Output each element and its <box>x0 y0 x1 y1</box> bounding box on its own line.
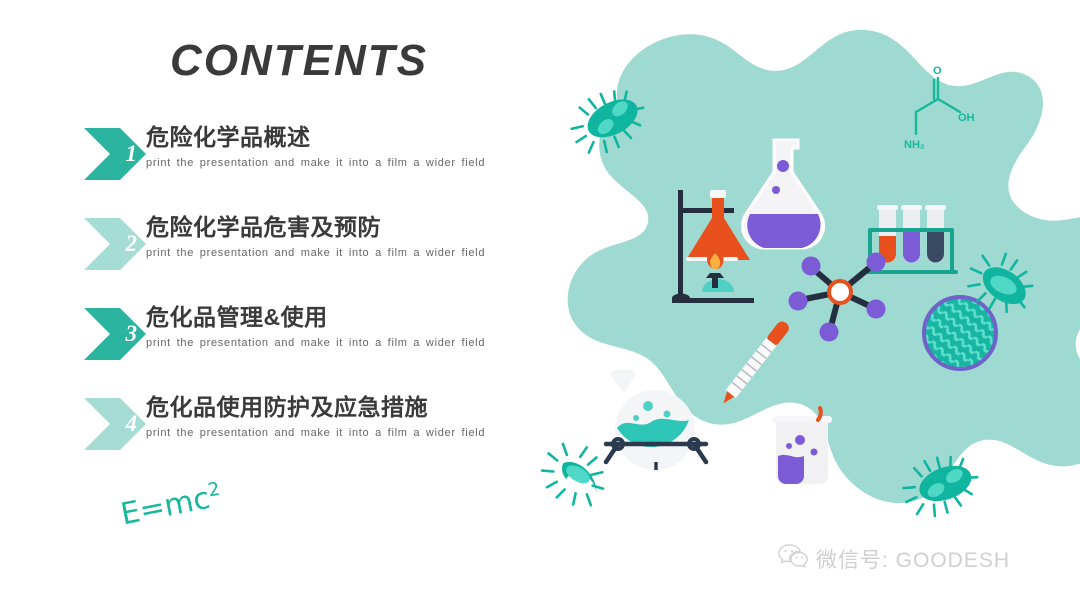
formula-base: E=mc <box>118 481 213 532</box>
list-item[interactable]: 4 危化品使用防护及应急措施 print the presentation an… <box>0 392 520 482</box>
formula-exponent: 2 <box>206 479 222 502</box>
contents-panel: CONTENTS 1 危险化学品概述 print the presentatio… <box>0 0 520 608</box>
item-subtitle: print the presentation and make it into … <box>146 244 506 262</box>
arrow-badge-3: 3 <box>84 308 146 360</box>
item-title: 危险化学品危害及预防 <box>146 212 506 242</box>
svg-text:NH₂: NH₂ <box>904 139 925 151</box>
page-title: CONTENTS <box>170 36 428 86</box>
svg-text:O: O <box>933 65 942 77</box>
item-subtitle: print the presentation and make it into … <box>146 154 506 172</box>
item-text: 危险化学品危害及预防 print the presentation and ma… <box>146 212 506 262</box>
item-text: 危化品使用防护及应急措施 print the presentation and … <box>146 392 506 442</box>
virus-circle-icon <box>924 297 996 369</box>
item-subtitle: print the presentation and make it into … <box>146 424 506 442</box>
svg-text:OH: OH <box>958 112 975 124</box>
item-title: 危化品管理&使用 <box>146 302 506 332</box>
watermark-text: 微信号: GOODESH <box>816 544 1010 574</box>
energy-formula: E=mc2 <box>118 479 224 533</box>
list-item[interactable]: 2 危险化学品危害及预防 print the presentation and … <box>0 212 520 302</box>
item-subtitle: print the presentation and make it into … <box>146 334 506 352</box>
arrow-badge-2: 2 <box>84 218 146 270</box>
item-title: 危化品使用防护及应急措施 <box>146 392 506 422</box>
item-title: 危险化学品概述 <box>146 122 506 152</box>
contents-list: 1 危险化学品概述 print the presentation and mak… <box>0 122 520 482</box>
item-text: 危化品管理&使用 print the presentation and make… <box>146 302 506 352</box>
watermark: 微信号: GOODESH <box>778 543 1010 574</box>
slide-root: CONTENTS 1 危险化学品概述 print the presentatio… <box>0 0 1080 608</box>
wechat-icon <box>778 543 808 574</box>
chemistry-illustration: O OH NH₂ <box>500 0 1080 608</box>
list-item[interactable]: 1 危险化学品概述 print the presentation and mak… <box>0 122 520 212</box>
arrow-badge-1: 1 <box>84 128 146 180</box>
list-item[interactable]: 3 危化品管理&使用 print the presentation and ma… <box>0 302 520 392</box>
arrow-badge-4: 4 <box>84 398 146 450</box>
item-text: 危险化学品概述 print the presentation and make … <box>146 122 506 172</box>
